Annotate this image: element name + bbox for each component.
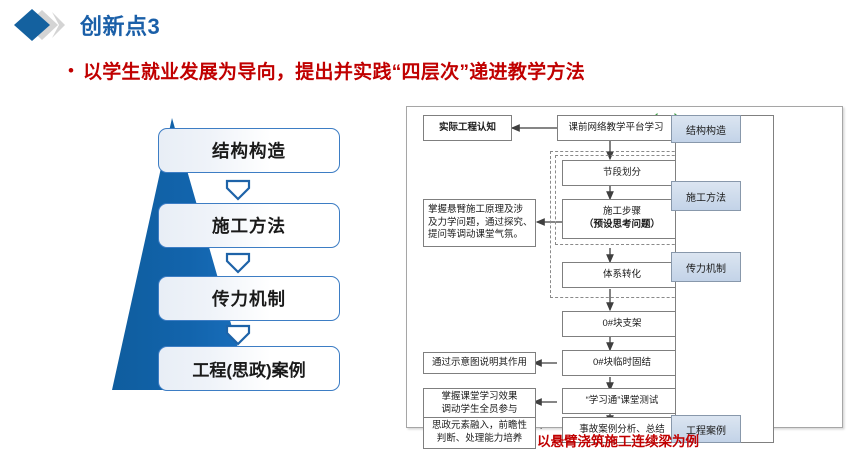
pyramid-level-1[interactable]: 结构构造 [158, 128, 340, 173]
flow-box-online-platform[interactable]: 课前网络教学平台学习 [557, 115, 675, 141]
pyramid-level-2[interactable]: 施工方法 [158, 203, 340, 248]
flow-box-construction-steps-line2: （预设思考问题） [584, 219, 660, 232]
flow-note-4-line1: 思政元素融入，前瞻性 [432, 420, 527, 433]
flow-box-block0-temp-fix[interactable]: 0#块临时固结 [562, 350, 682, 376]
right-col-box-structure[interactable]: 结构构造 [671, 115, 741, 143]
slide-canvas: 创新点3 • 以学生就业发展为导向，提出并实践“四层次”递进教学方法 结构构造 [0, 0, 853, 460]
flow-note-2[interactable]: 通过示意图说明其作用 [423, 352, 536, 374]
flow-note-3[interactable]: 掌握课堂学习效果 调动学生全员参与 [423, 388, 536, 420]
pyramid-level-4[interactable]: 工程(思政)案例 [158, 346, 340, 391]
page-title: 创新点3 [80, 9, 160, 41]
diagram-caption: 以悬臂浇筑施工连续梁为例 [537, 430, 699, 450]
right-col-box-method[interactable]: 施工方法 [671, 181, 741, 211]
flow-note-1[interactable]: 掌握悬臂施工原理及涉 及力学问题，通过探究、 提问等调动课堂气氛。 [423, 199, 536, 247]
flow-box-construction-steps-line1: 施工步骤 [603, 206, 641, 219]
right-col-box-force[interactable]: 传力机制 [671, 252, 741, 282]
bullet-text: 以学生就业发展为导向，提出并实践“四层次”递进教学方法 [83, 57, 585, 84]
flow-note-4[interactable]: 思政元素融入，前瞻性 判断、处理能力培养 [423, 417, 536, 449]
bullet-marker: • [68, 62, 74, 79]
diamond-chevron-icon [12, 8, 74, 42]
flow-box-block0-bracket[interactable]: 0#块支架 [562, 311, 682, 337]
four-level-pyramid: 结构构造 施工方法 传力机制 工程(思政)案例 [112, 118, 362, 400]
flow-box-segment-division[interactable]: 节段划分 [562, 160, 682, 186]
flow-note-4-line2: 判断、处理能力培养 [437, 433, 523, 446]
teaching-flow-diagram: 实际工程认知 课前网络教学平台学习 节段划分 施工步骤 （预设思考问题） 体系转… [406, 106, 843, 428]
pyramid-level-3[interactable]: 传力机制 [158, 276, 340, 321]
flow-box-actual-cognition[interactable]: 实际工程认知 [423, 115, 512, 141]
flow-note-3-line2: 调动学生全员参与 [441, 404, 517, 417]
flow-box-system-transform[interactable]: 体系转化 [562, 262, 682, 288]
flow-box-xuexitong-test[interactable]: “学习通”课堂测试 [562, 388, 682, 414]
flow-note-1-line3: 提问等调动课堂气氛。 [428, 229, 523, 242]
bullet-line: • 以学生就业发展为导向，提出并实践“四层次”递进教学方法 [68, 57, 585, 84]
flow-note-3-line1: 掌握课堂学习效果 [441, 391, 517, 404]
flow-note-1-line1: 掌握悬臂施工原理及涉 [428, 204, 523, 217]
flow-note-1-line2: 及力学问题，通过探究、 [428, 217, 533, 230]
flow-box-construction-steps[interactable]: 施工步骤 （预设思考问题） [562, 199, 682, 239]
